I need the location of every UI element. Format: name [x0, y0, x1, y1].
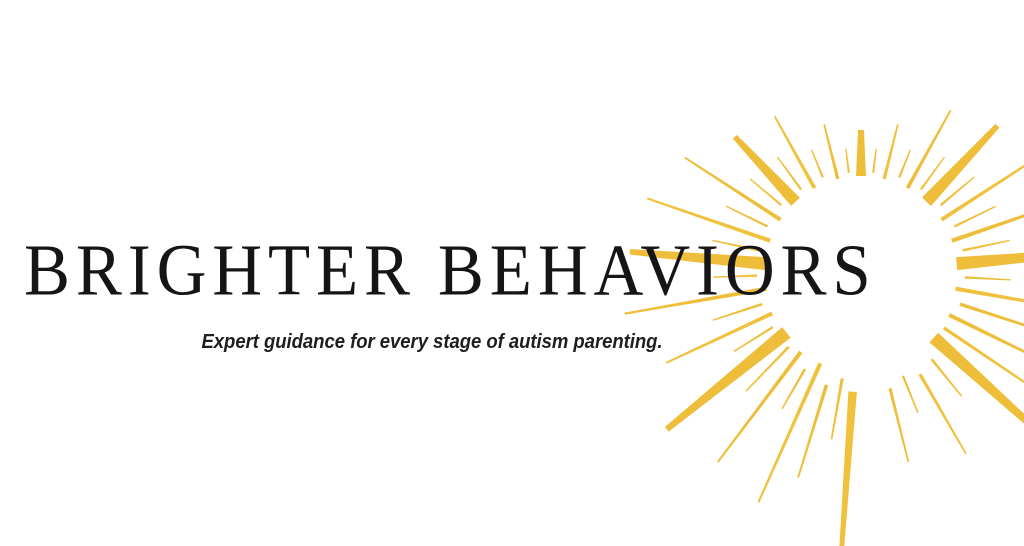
- sunburst-ray: [902, 375, 919, 413]
- tagline: Expert guidance for every stage of autis…: [63, 330, 801, 354]
- sunburst-ray: [956, 247, 1024, 270]
- sunburst-ray: [898, 149, 911, 177]
- wordmark: BRIGHTERBEHAVIORS Expert guidance for ev…: [0, 0, 860, 546]
- sunburst-ray: [906, 110, 952, 189]
- sunburst-ray: [930, 358, 962, 397]
- sunburst-ray: [872, 149, 877, 173]
- sunburst-ray: [948, 313, 1024, 374]
- sunburst-ray: [951, 194, 1024, 243]
- logo-canvas: BRIGHTERBEHAVIORS Expert guidance for ev…: [0, 0, 1024, 546]
- sunburst-ray: [922, 124, 1000, 206]
- brand-word-two: BEHAVIORS: [438, 230, 877, 311]
- sunburst-ray: [919, 373, 967, 454]
- sunburst-ray: [955, 287, 1024, 316]
- sunburst-ray: [940, 176, 975, 206]
- sunburst-ray: [962, 240, 1009, 252]
- sunburst-ray: [959, 303, 1024, 352]
- sunburst-ray: [920, 157, 945, 190]
- sunburst-ray: [940, 149, 1024, 222]
- brand-word-one: BRIGHTER: [24, 230, 416, 311]
- sunburst-ray: [943, 327, 1024, 409]
- sunburst-ray: [883, 124, 899, 179]
- page-title: BRIGHTERBEHAVIORS: [24, 234, 840, 307]
- sunburst-ray: [954, 206, 996, 228]
- sunburst-ray: [888, 388, 909, 462]
- sunburst-ray: [965, 276, 1011, 280]
- sunburst-ray: [929, 333, 1024, 442]
